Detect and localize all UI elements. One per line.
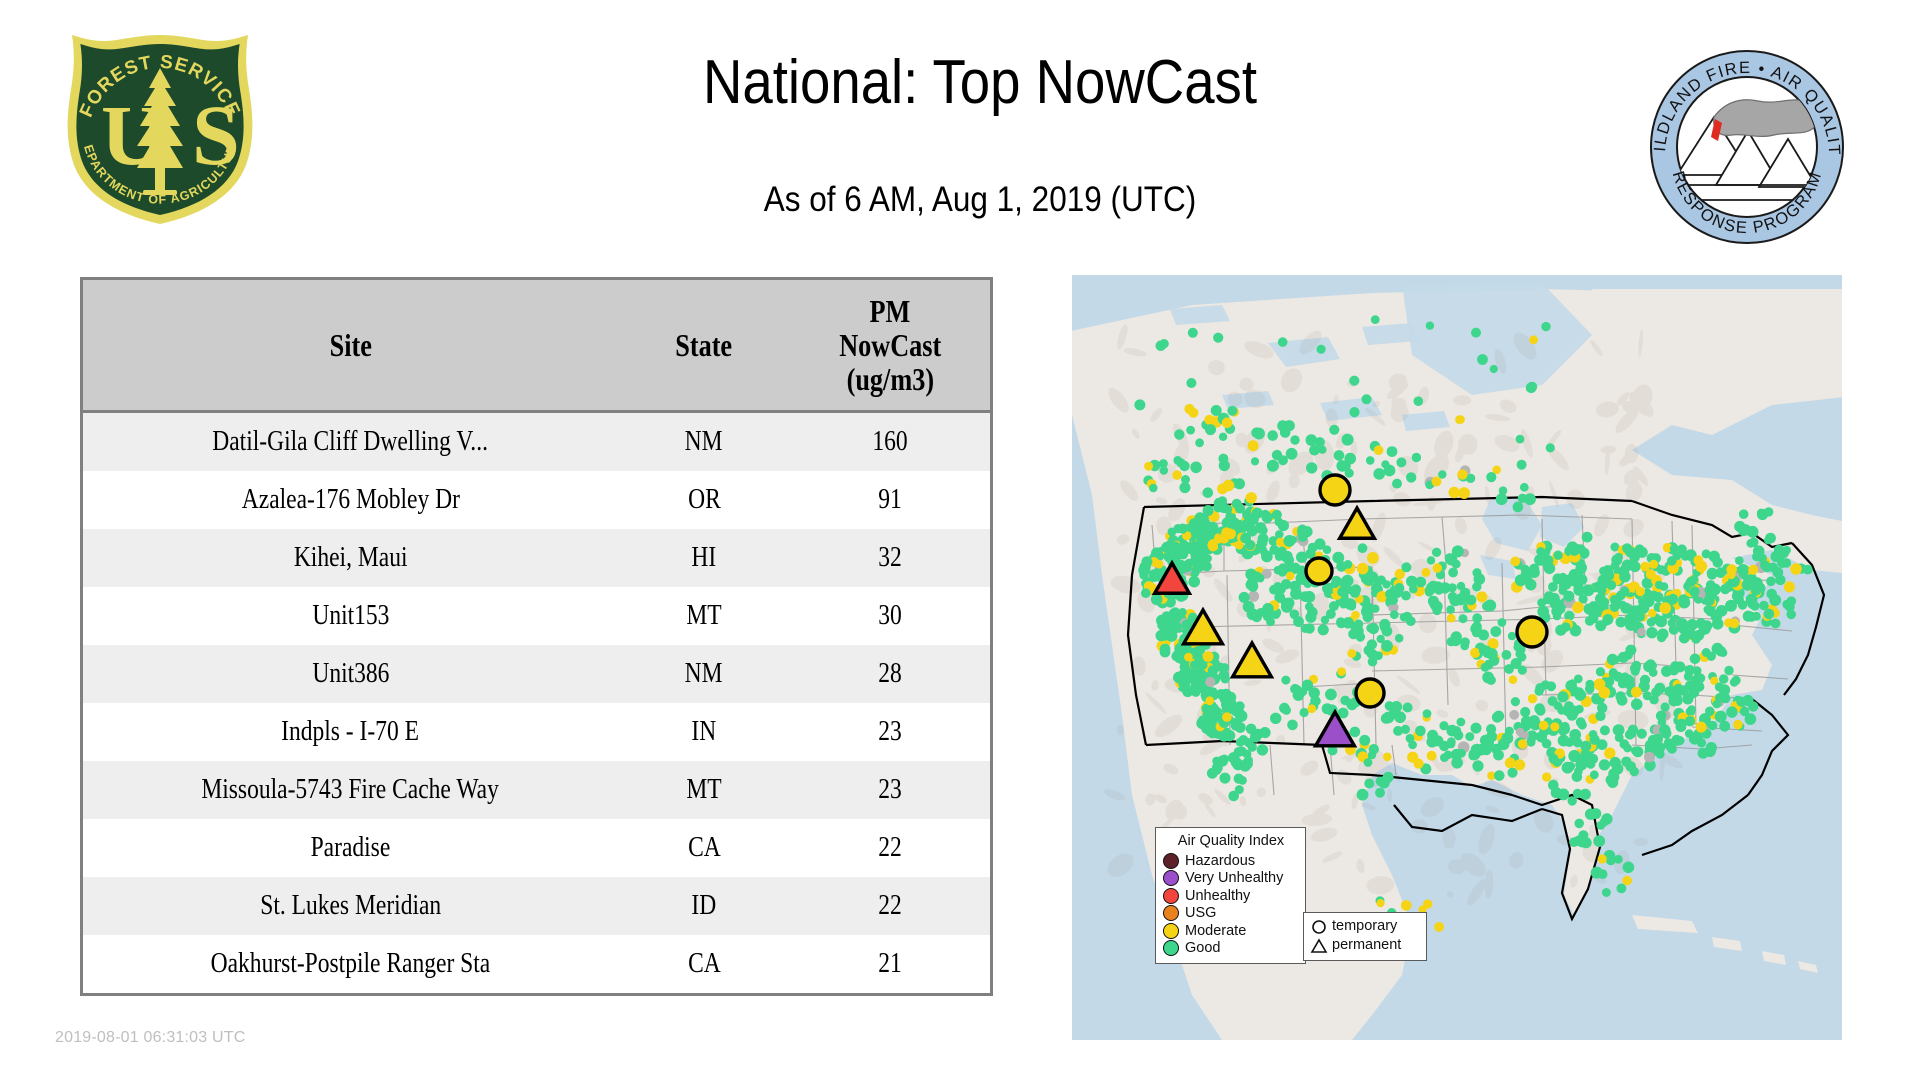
monitor-dot xyxy=(1559,582,1568,591)
monitor-dot xyxy=(1322,703,1333,714)
monitor-dot xyxy=(1205,696,1214,705)
monitor-dot xyxy=(1589,604,1600,615)
monitor-dot xyxy=(1342,575,1354,587)
aqi-legend-item: Unhealthy xyxy=(1163,887,1299,905)
monitor-dot xyxy=(1719,674,1729,684)
monitor-dot xyxy=(1281,553,1290,562)
monitor-dot xyxy=(1591,867,1603,879)
monitor-dot xyxy=(1486,472,1496,482)
monitor-dot xyxy=(1551,787,1562,798)
aqi-swatch-icon xyxy=(1163,940,1179,956)
monitor-dot xyxy=(1307,704,1316,713)
page-subtitle: As of 6 AM, Aug 1, 2019 (UTC) xyxy=(458,180,1502,220)
monitor-dot xyxy=(1286,572,1295,581)
monitor-dot xyxy=(1414,396,1424,406)
monitor-dot xyxy=(1696,722,1707,733)
monitor-dot xyxy=(1498,618,1507,627)
monitor-dot xyxy=(1166,630,1178,642)
monitor-dot xyxy=(1668,664,1679,675)
monitor-dot xyxy=(1724,666,1733,675)
table-header-row: Site State PM NowCast (ug/m3) xyxy=(83,280,990,412)
monitor-dot xyxy=(1486,648,1498,660)
monitor-dot xyxy=(1201,521,1210,530)
monitor-dot xyxy=(1631,699,1643,711)
monitor-dot xyxy=(1406,472,1416,482)
table-row[interactable]: Missoula-5743 Fire Cache WayMT23 xyxy=(83,761,990,819)
monitor-dot xyxy=(1186,378,1196,388)
monitor-dot xyxy=(1306,434,1318,446)
monitor-dot xyxy=(1550,722,1559,731)
monitor-dot xyxy=(1219,693,1229,703)
monitor-dot xyxy=(1168,542,1178,552)
monitor-dot xyxy=(1487,676,1496,685)
monitor-dot xyxy=(1286,448,1298,460)
monitor-dot xyxy=(1566,762,1575,771)
monitor-dot xyxy=(1628,725,1638,735)
page-title: National: Top NowCast xyxy=(470,50,1491,115)
monitor-dot xyxy=(1235,541,1244,550)
monitor-dot xyxy=(1702,648,1711,657)
monitor-dot xyxy=(1691,675,1700,684)
monitor-dot xyxy=(1318,624,1329,635)
monitor-dot xyxy=(1606,580,1616,590)
monitor-dot xyxy=(1544,591,1554,601)
table-cell-site-text: Missoula-5743 Fire Cache Way xyxy=(202,774,500,806)
monitor-dot xyxy=(1510,557,1520,567)
monitor-dot xyxy=(1520,483,1529,492)
monitor-dot xyxy=(1331,579,1340,588)
monitor-dot xyxy=(1447,737,1456,746)
monitor-dot xyxy=(1172,470,1182,480)
monitor-dot xyxy=(1373,468,1385,480)
monitor-dot xyxy=(1451,749,1463,761)
monitor-dot xyxy=(1609,670,1618,679)
monitor-dot xyxy=(1676,721,1687,732)
table-cell-pm: 23 xyxy=(790,761,990,819)
monitor-dot xyxy=(1174,429,1184,439)
monitor-dot xyxy=(1537,606,1549,618)
legend-label-permanent: permanent xyxy=(1332,938,1401,953)
monitor-dot xyxy=(1387,446,1398,457)
table-cell-state-text: NM xyxy=(685,426,723,458)
monitor-dot xyxy=(1223,480,1235,492)
monitor-dot xyxy=(1169,612,1181,624)
monitor-dot xyxy=(1188,328,1198,338)
monitor-dot xyxy=(1668,594,1678,604)
monitor-dot xyxy=(1235,722,1246,733)
aqi-legend-title: Air Quality Index xyxy=(1163,833,1299,849)
monitor-dot xyxy=(1646,627,1657,638)
monitor-dot xyxy=(1203,487,1214,498)
aqi-swatch-icon xyxy=(1163,870,1179,886)
column-header-state-label: State xyxy=(676,328,733,362)
column-header-site[interactable]: Site xyxy=(83,280,618,412)
monitor-dot xyxy=(1726,706,1737,717)
monitor-dot xyxy=(1526,737,1535,746)
monitor-dot xyxy=(1301,625,1309,633)
monitor-dot xyxy=(1182,667,1191,676)
table-cell-site-text: St. Lukes Meridian xyxy=(260,890,441,922)
monitor-dot xyxy=(1513,502,1524,513)
monitor-dot xyxy=(1678,597,1690,609)
table-cell-state-text: OR xyxy=(688,484,721,516)
monitor-dot xyxy=(1736,697,1746,707)
monitor-dot xyxy=(1290,610,1300,620)
table-cell-pm-text: 23 xyxy=(878,774,902,806)
monitor-dot xyxy=(1368,623,1379,634)
table-row[interactable]: ParadiseCA22 xyxy=(83,819,990,877)
column-header-pm-nowcast[interactable]: PM NowCast (ug/m3) xyxy=(790,280,990,412)
monitor-dot xyxy=(1732,592,1741,601)
aqi-swatch-icon xyxy=(1163,888,1179,904)
monitor-dot xyxy=(1720,584,1730,594)
monitor-dot xyxy=(1469,748,1481,760)
monitor-dot xyxy=(1721,693,1731,703)
monitor-dot xyxy=(1568,544,1580,556)
monitor-dot xyxy=(1655,742,1666,753)
monitor-dot xyxy=(1670,544,1679,553)
monitor-dot xyxy=(1542,555,1553,566)
monitor-dot xyxy=(1572,602,1584,614)
table-cell-pm: 23 xyxy=(790,703,990,761)
table-cell-pm-text: 21 xyxy=(878,948,902,980)
table-row[interactable]: Indpls - I-70 EIN23 xyxy=(83,703,990,761)
monitor-dot xyxy=(1340,696,1350,706)
monitor-dot xyxy=(1528,694,1537,703)
monitor-dot xyxy=(1542,739,1552,749)
aqi-legend-rows: HazardousVery UnhealthyUnhealthyUSGModer… xyxy=(1163,852,1299,957)
monitor-dot xyxy=(1712,618,1724,630)
monitor-dot xyxy=(1455,593,1467,605)
monitor-dot xyxy=(1752,612,1761,621)
monitor-dot xyxy=(1139,570,1148,579)
monitor-dot xyxy=(1364,576,1374,586)
monitor-dot xyxy=(1623,862,1635,874)
monitor-dot xyxy=(1297,527,1307,537)
monitor-dot xyxy=(1542,772,1551,781)
table-cell-site-text: Indpls - I-70 E xyxy=(282,716,420,748)
table-cell-site: Azalea-176 Mobley Dr xyxy=(83,471,618,529)
monitor-dot xyxy=(1537,598,1546,607)
monitor-dot xyxy=(1274,566,1283,575)
monitor-dot xyxy=(1190,462,1202,474)
monitor-dot xyxy=(1706,606,1715,615)
monitor-dot xyxy=(1610,602,1620,612)
monitor-dot xyxy=(1557,691,1568,702)
monitor-dot xyxy=(1654,683,1665,694)
monitor-dot xyxy=(1445,553,1455,563)
table-row[interactable]: Azalea-176 Mobley DrOR91 xyxy=(83,471,990,529)
monitor-dot xyxy=(1590,770,1599,779)
monitor-dot xyxy=(1595,593,1606,604)
monitor-dot xyxy=(1583,584,1595,596)
table-cell-state: NM xyxy=(618,645,790,703)
table-cell-pm: 30 xyxy=(790,587,990,645)
monitor-dot xyxy=(1440,753,1449,762)
table-cell-state: IN xyxy=(618,703,790,761)
monitor-dot xyxy=(1447,614,1456,623)
monitor-dot xyxy=(1457,469,1467,479)
monitor-dot xyxy=(1367,639,1377,649)
table-cell-pm-text: 22 xyxy=(878,890,902,922)
monitor-dot xyxy=(1184,653,1193,662)
monitor-dot xyxy=(1597,703,1607,713)
monitor-dot xyxy=(1695,560,1707,572)
monitor-dot xyxy=(1349,407,1359,417)
monitor-dot xyxy=(1690,654,1701,665)
legend-item-permanent: permanent xyxy=(1310,936,1420,955)
table-cell-state-text: MT xyxy=(686,600,721,632)
monitor-dot xyxy=(1246,492,1257,503)
monitor-dot xyxy=(1403,703,1413,713)
monitor-dot xyxy=(1567,710,1578,721)
monitor-dot xyxy=(1337,667,1346,676)
table-cell-state-text: HI xyxy=(692,542,717,574)
shield-letter-s: S xyxy=(192,87,240,183)
monitor-dot xyxy=(1578,721,1587,730)
monitor-dot xyxy=(1134,399,1145,410)
monitor-dot xyxy=(1632,746,1643,757)
monitor-dot xyxy=(1636,587,1645,596)
top-nowcast-table: Site State PM NowCast (ug/m3) Datil-Gila… xyxy=(83,280,990,993)
monitor-dot xyxy=(1511,658,1522,669)
column-header-state[interactable]: State xyxy=(618,280,790,412)
monitor-dot xyxy=(1709,551,1720,562)
monitor-dot xyxy=(1188,576,1200,588)
monitor-dot xyxy=(1182,563,1192,573)
monitor-dot xyxy=(1246,522,1255,531)
monitor-dot xyxy=(1186,426,1195,435)
monitor-dot xyxy=(1426,322,1434,330)
monitor-dot xyxy=(1290,435,1299,444)
highlighted-circle-marker[interactable] xyxy=(1306,558,1332,584)
smoke-plume xyxy=(1714,100,1818,137)
monitor-dot xyxy=(1585,684,1595,694)
monitor-dot xyxy=(1361,606,1373,618)
monitor-dot xyxy=(1141,556,1152,567)
table-row[interactable]: Oakhurst-Postpile Ranger StaCA21 xyxy=(83,935,990,993)
monitor-dot xyxy=(1357,563,1369,575)
table-cell-state: ID xyxy=(618,877,790,935)
monitor-dot xyxy=(1580,789,1591,800)
monitor-dot xyxy=(1661,702,1670,711)
monitor-dot xyxy=(1181,475,1190,484)
monitor-dot xyxy=(1660,582,1669,591)
monitor-dot xyxy=(1620,603,1631,614)
monitor-dot xyxy=(1256,574,1265,583)
monitor-dot xyxy=(1577,837,1588,848)
monitor-dot xyxy=(1326,609,1336,619)
table-cell-pm: 28 xyxy=(790,645,990,703)
monitor-dot xyxy=(1427,730,1438,741)
table-row[interactable]: Unit153MT30 xyxy=(83,587,990,645)
monitor-dot xyxy=(1615,691,1625,701)
monitor-dot xyxy=(1735,556,1744,565)
monitor-dot xyxy=(1620,587,1629,596)
monitor-dot xyxy=(1631,687,1642,698)
table-cell-pm-text: 28 xyxy=(878,658,902,690)
monitor-dot xyxy=(1769,594,1781,606)
monitor-dot xyxy=(1367,552,1379,564)
monitor-dot xyxy=(1415,577,1426,588)
monitor-dot xyxy=(1536,547,1545,556)
monitor-dot xyxy=(1351,611,1360,620)
monitor-dot xyxy=(1448,568,1458,578)
monitor-dot xyxy=(1585,809,1596,820)
table-cell-pm-text: 32 xyxy=(878,542,902,574)
monitor-dot xyxy=(1645,744,1654,753)
monitor-dot xyxy=(1748,565,1758,575)
table-cell-pm-text: 91 xyxy=(878,484,902,516)
table-cell-site: Datil-Gila Cliff Dwelling V... xyxy=(83,412,618,472)
monitor-dot xyxy=(1409,585,1418,594)
monitor-dot xyxy=(1622,543,1632,553)
monitor-dot xyxy=(1622,876,1632,886)
monitor-dot xyxy=(1679,633,1690,644)
aqi-legend-item: Very Unhealthy xyxy=(1163,870,1299,888)
table-row[interactable]: Datil-Gila Cliff Dwelling V...NM160 xyxy=(83,412,990,472)
monitor-dot xyxy=(1618,652,1629,663)
table-cell-state: OR xyxy=(618,471,790,529)
monitor-dot xyxy=(1423,709,1432,718)
monitor-dot xyxy=(1637,729,1647,739)
monitor-dot xyxy=(1657,633,1667,643)
monitor-dot xyxy=(1602,616,1611,625)
monitor-dot xyxy=(1219,433,1227,441)
monitor-dot xyxy=(1406,734,1415,743)
monitor-dot xyxy=(1514,759,1525,770)
table-cell-site: Paradise xyxy=(83,819,618,877)
monitor-dot xyxy=(1276,584,1286,594)
monitor-dot xyxy=(1471,328,1481,338)
wfaqrp-seal-logo: WILDLAND FIRE • AIR QUALITY RESPONSE PRO… xyxy=(1640,45,1855,250)
monitor-dot xyxy=(1347,649,1356,658)
monitor-dot xyxy=(1546,443,1555,452)
monitor-dot xyxy=(1366,456,1375,465)
monitor-dot xyxy=(1195,438,1204,447)
monitor-dot xyxy=(1653,592,1663,602)
monitor-dot xyxy=(1486,724,1496,734)
monitor-dot xyxy=(1516,435,1525,444)
monitor-dot xyxy=(1675,736,1684,745)
monitor-dot xyxy=(1279,703,1290,714)
monitor-dot xyxy=(1287,720,1298,731)
monitor-dot xyxy=(1526,382,1537,393)
monitor-dot xyxy=(1253,428,1265,440)
monitor-dot xyxy=(1415,726,1426,737)
monitor-dot xyxy=(1358,543,1368,553)
monitor-dot xyxy=(1712,643,1724,655)
monitor-dot xyxy=(1168,528,1177,537)
monitor-dot xyxy=(1529,335,1538,344)
table-cell-site: Kihei, Maui xyxy=(83,529,618,587)
monitor-dot xyxy=(1490,365,1498,373)
aqi-legend-label: Unhealthy xyxy=(1185,889,1250,904)
monitor-dot xyxy=(1257,538,1268,549)
table-header: Site State PM NowCast (ug/m3) xyxy=(83,280,990,412)
monitor-dot xyxy=(1778,547,1789,558)
monitor-dot xyxy=(1207,768,1218,779)
monitor-dot xyxy=(1317,345,1326,354)
monitor-dot xyxy=(1272,450,1282,460)
monitor-dot xyxy=(1521,716,1532,727)
monitor-dot xyxy=(1474,573,1486,585)
monitor-dot xyxy=(1602,888,1611,897)
table-cell-site-text: Azalea-176 Mobley Dr xyxy=(241,484,459,516)
table-row[interactable]: Unit386NM28 xyxy=(83,645,990,703)
monitor-dot xyxy=(1546,681,1556,691)
monitor-dot xyxy=(1308,543,1318,553)
monitor-dot xyxy=(1460,637,1469,646)
monitor-dot xyxy=(1406,616,1416,626)
monitor-dot xyxy=(1509,710,1519,720)
table-cell-state: MT xyxy=(618,761,790,819)
monitor-dot xyxy=(1334,450,1345,461)
column-header-pm-line-1: PM xyxy=(870,294,911,328)
monitor-dot xyxy=(1300,708,1309,717)
table-row[interactable]: Kihei, MauiHI32 xyxy=(83,529,990,587)
monitor-dot xyxy=(1493,711,1504,722)
aqi-swatch-icon xyxy=(1163,923,1179,939)
monitor-dot xyxy=(1541,322,1550,331)
monitor-dot xyxy=(1371,605,1379,613)
table-row[interactable]: St. Lukes MeridianID22 xyxy=(83,877,990,935)
monitor-dot xyxy=(1401,562,1411,572)
highlighted-circle-marker[interactable] xyxy=(1517,617,1547,647)
monitor-dot xyxy=(1221,527,1231,537)
monitor-dot xyxy=(1392,479,1402,489)
monitor-dot xyxy=(1357,789,1369,801)
monitor-dot xyxy=(1412,453,1421,462)
monitor-dot xyxy=(1457,582,1465,590)
monitor-dot xyxy=(1244,738,1253,747)
monitor-dot xyxy=(1563,591,1574,602)
monitor-dot xyxy=(1203,710,1213,720)
monitor-dot xyxy=(1212,757,1221,766)
monitor-dot xyxy=(1771,619,1781,629)
monitor-dot xyxy=(1638,602,1650,614)
monitor-dot xyxy=(1549,754,1559,764)
monitor-dot xyxy=(1618,679,1628,689)
monitor-dot xyxy=(1727,570,1736,579)
aqi-swatch-icon xyxy=(1163,853,1179,869)
monitor-dot xyxy=(1221,674,1230,683)
monitor-dot xyxy=(1685,665,1696,676)
monitor-dot xyxy=(1614,553,1623,562)
monitor-dot xyxy=(1383,772,1394,783)
monitor-dot xyxy=(1732,676,1741,685)
highlighted-circle-marker[interactable] xyxy=(1356,679,1384,707)
monitor-dot xyxy=(1729,619,1739,629)
monitor-dot xyxy=(1224,730,1235,741)
monitor-dot xyxy=(1382,580,1390,588)
monitor-dot xyxy=(1517,460,1527,470)
monitor-dot xyxy=(1141,588,1151,598)
table-cell-site: Unit386 xyxy=(83,645,618,703)
highlighted-circle-marker[interactable] xyxy=(1320,475,1350,505)
monitor-dot xyxy=(1427,556,1435,564)
monitor-dot xyxy=(1379,619,1390,630)
monitor-dot xyxy=(1376,899,1384,907)
monitor-dot xyxy=(1149,484,1158,493)
monitor-dot xyxy=(1160,647,1171,658)
aqi-legend-label: Very Unhealthy xyxy=(1185,871,1283,886)
monitor-dot xyxy=(1318,446,1326,454)
monitor-dot xyxy=(1600,725,1610,735)
monitor-dot xyxy=(1374,445,1384,455)
table-cell-pm: 22 xyxy=(790,819,990,877)
table-cell-state: CA xyxy=(618,935,790,993)
